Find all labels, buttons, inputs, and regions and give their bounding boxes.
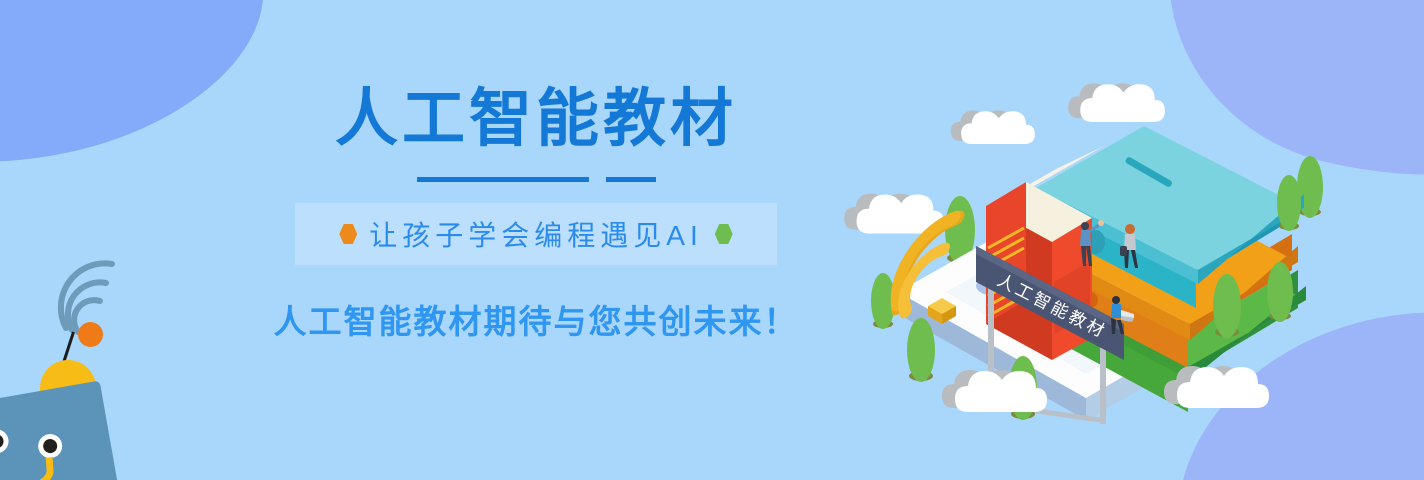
ai-textbook-banner: 人工智能教材 让孩子学会编程遇见AI 人工智能教材期待与您共创未来！: [0, 0, 1424, 480]
hexagon-green-icon: [715, 224, 733, 244]
robot-antenna-ball: [78, 322, 103, 347]
subtitle-band: 让孩子学会编程遇见AI: [295, 203, 777, 265]
robot-mascot: [0, 248, 222, 480]
divider-short: [606, 177, 656, 182]
robot-head: [0, 380, 118, 480]
isometric-illustration: 人工智能教材: [828, 56, 1348, 480]
divider-long: [417, 177, 589, 182]
title-divider: [236, 177, 836, 182]
banner-text-block: 人工智能教材 让孩子学会编程遇见AI 人工智能教材期待与您共创未来！: [236, 88, 836, 343]
page-title: 人工智能教材: [236, 88, 836, 151]
hexagon-orange-icon: [339, 224, 357, 244]
robot-eye-left: [0, 427, 10, 455]
robot-wifi-signal-icon: [50, 250, 160, 340]
subtitle-text: 让孩子学会编程遇见AI: [369, 214, 702, 254]
robot-eye-right: [36, 432, 64, 460]
tagline-text: 人工智能教材期待与您共创未来！: [236, 295, 836, 343]
robot-smile: [0, 457, 55, 480]
